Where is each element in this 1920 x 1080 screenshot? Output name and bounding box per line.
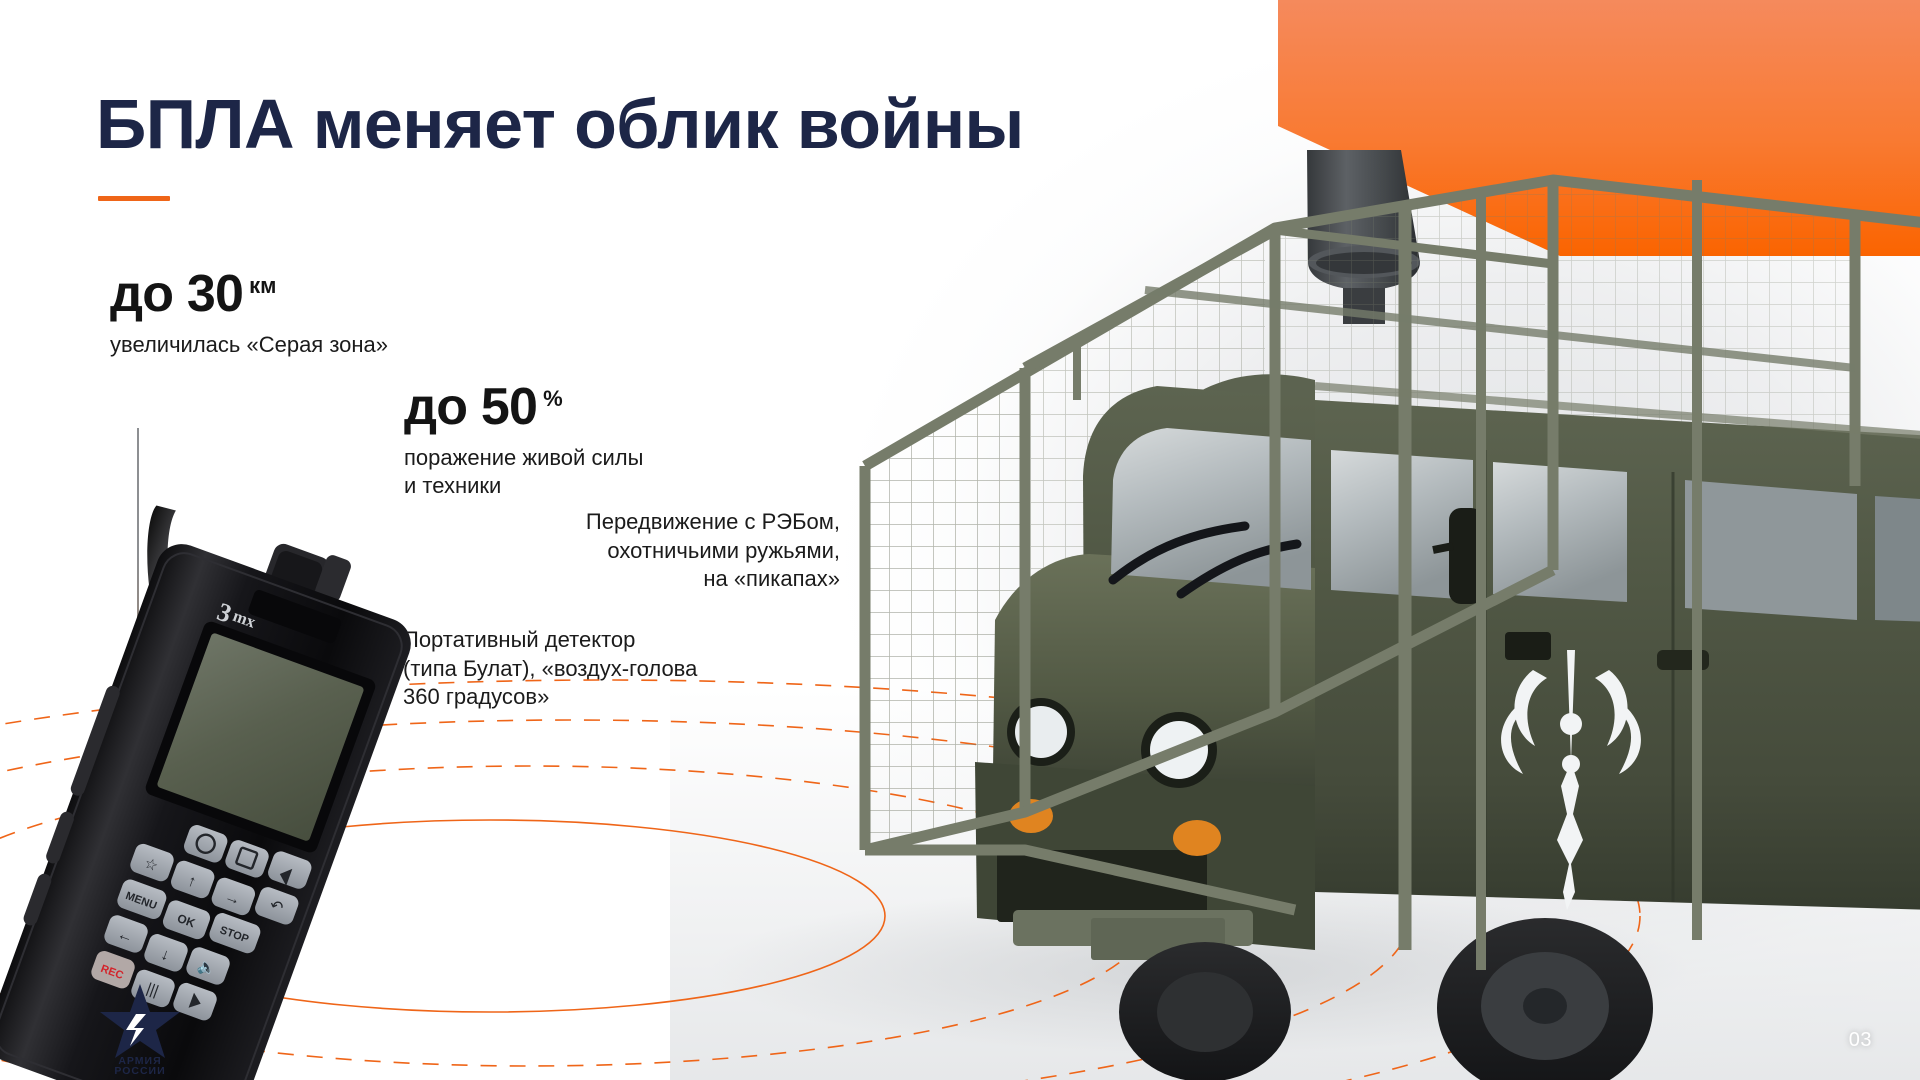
- stat-block-range: до 30км увеличилась «Серая зона»: [110, 268, 388, 359]
- page-number: 03: [1849, 1029, 1872, 1052]
- stat-caption-range: увеличилась «Серая зона»: [110, 331, 388, 359]
- stat-block-casualty: до 50% поражение живой силы и техники: [404, 381, 643, 499]
- stat-value-range: до 30км: [110, 268, 388, 320]
- note-mobility: Передвижение с РЭБом, охотничьими ружьям…: [440, 508, 840, 594]
- uaz-van-illustration: [845, 150, 1920, 1080]
- stat-unit: км: [249, 273, 276, 298]
- wheels: [1119, 918, 1653, 1080]
- title-accent-rule: [98, 196, 170, 201]
- army-of-russia-logo: АРМИЯ РОССИИ: [92, 978, 188, 1074]
- stat-prefix: до: [110, 265, 173, 323]
- stat-number: 30: [187, 265, 243, 323]
- logo-line2: РОССИИ: [114, 1065, 165, 1074]
- stat-caption-casualty: поражение живой силы и техники: [404, 444, 643, 499]
- stat-value-casualty: до 50%: [404, 381, 643, 433]
- stat-prefix: до: [404, 378, 467, 436]
- stat-unit: %: [543, 386, 563, 411]
- slide-root: БПЛА меняет облик войны до 30км увеличил…: [0, 0, 1920, 1080]
- stat-number: 50: [481, 378, 537, 436]
